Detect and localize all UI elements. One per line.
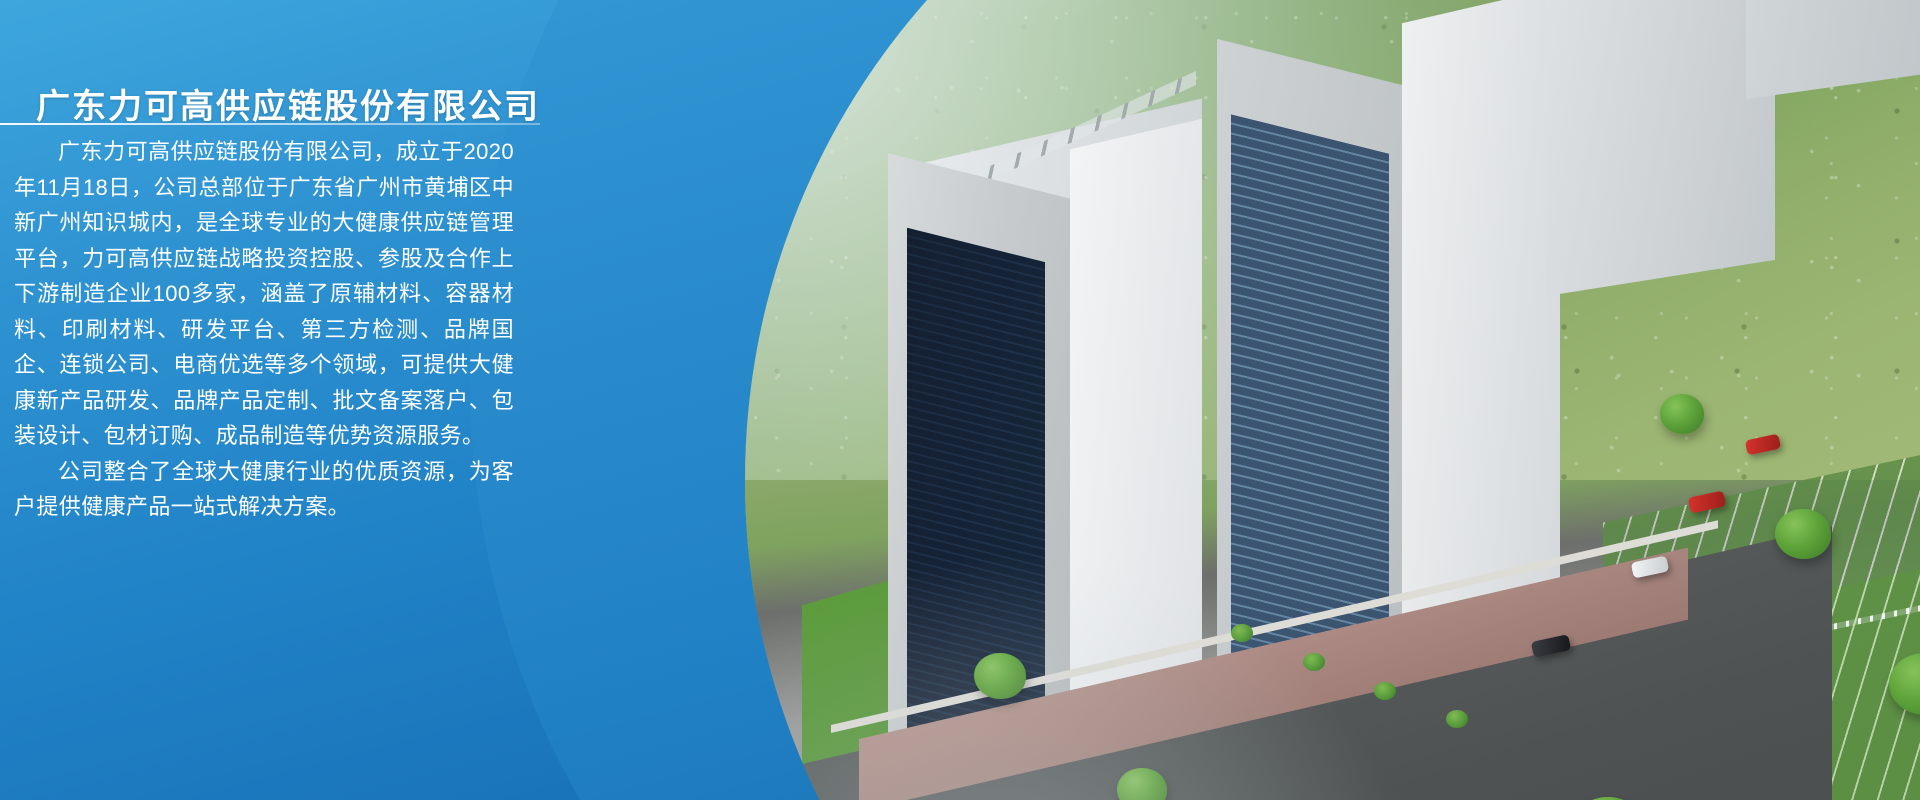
company-description: 广东力可高供应链股份有限公司，成立于2020年11月18日，公司总部位于广东省广… [14,134,514,525]
company-profile-banner: 广东力可高供应链股份有限公司 广东力可高供应链股份有限公司，成立于2020年11… [0,0,1920,800]
page-title: 广东力可高供应链股份有限公司 [36,79,540,128]
photo-edge-fade [745,0,1920,800]
photo-content [745,0,1920,800]
description-paragraph-2: 公司整合了全球大健康行业的优质资源，为客户提供健康产品一站式解决方案。 [14,454,514,525]
title-divider [0,123,540,125]
description-paragraph-1: 广东力可高供应链股份有限公司，成立于2020年11月18日，公司总部位于广东省广… [14,134,514,454]
campus-aerial-photo [745,0,1920,800]
company-text-panel: 广东力可高供应链股份有限公司 广东力可高供应链股份有限公司，成立于2020年11… [0,0,560,800]
